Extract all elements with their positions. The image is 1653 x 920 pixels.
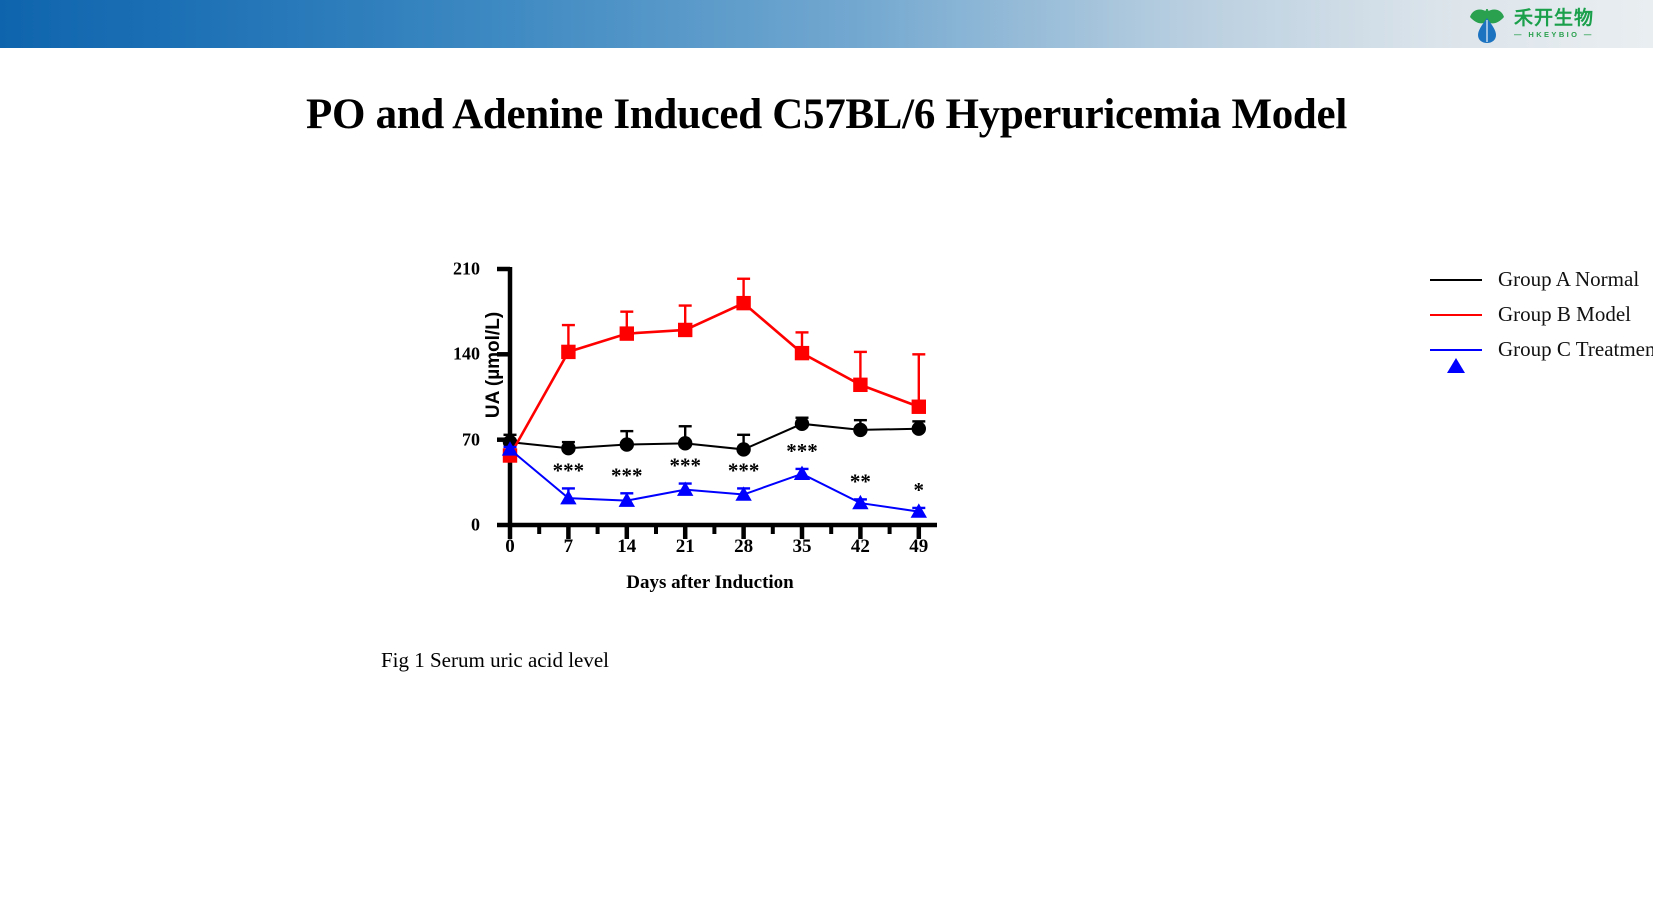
- legend-key-circle-icon: [1430, 270, 1482, 290]
- figure-container: UA (µmol/L) 0 70 140 210: [0, 236, 1653, 696]
- y-tick-label-210: 210: [430, 259, 480, 280]
- significance-marker: ***: [669, 454, 701, 478]
- data-point-marker: [852, 495, 868, 509]
- data-point-marker: [561, 345, 575, 359]
- data-point-marker: [561, 441, 575, 455]
- x-tick-label-0: 0: [490, 536, 530, 558]
- legend-key-triangle-icon: [1430, 340, 1482, 360]
- data-point-marker: [620, 326, 634, 340]
- chart-svg: ******************: [485, 236, 1005, 546]
- legend-label-group-b: Group B Model: [1498, 302, 1631, 327]
- y-tick-label-0: 0: [430, 515, 480, 536]
- data-point-marker: [795, 417, 809, 431]
- x-tick-label-35: 35: [782, 536, 822, 558]
- legend-item-group-b[interactable]: Group B Model: [1430, 297, 1653, 332]
- data-point-marker: [736, 296, 750, 310]
- logo-chinese-name: 禾开生物: [1514, 9, 1594, 28]
- x-tick-label-7: 7: [548, 536, 588, 558]
- logo-english-name: — HKEYBIO —: [1514, 31, 1594, 39]
- x-tick-label-14: 14: [607, 536, 647, 558]
- data-point-marker: [853, 423, 867, 437]
- data-point-marker: [620, 437, 634, 451]
- significance-marker: ***: [553, 458, 585, 482]
- data-point-marker: [678, 323, 692, 337]
- legend-key-square-icon: [1430, 305, 1482, 325]
- y-tick-label-140: 140: [430, 344, 480, 365]
- legend-label-group-c: Group C Treatment: [1498, 337, 1653, 362]
- significance-marker: ***: [728, 458, 760, 482]
- x-tick-label-49: 49: [899, 536, 939, 558]
- significance-marker: **: [850, 469, 871, 493]
- data-point-marker: [912, 400, 926, 414]
- data-point-marker: [736, 442, 750, 456]
- error-bar: [912, 354, 925, 406]
- logo-leaf-droplet-icon: [1467, 4, 1507, 44]
- legend-item-group-a[interactable]: Group A Normal: [1430, 262, 1653, 297]
- significance-marker: ***: [611, 463, 643, 487]
- company-logo: 禾开生物 — HKEYBIO —: [1467, 2, 1635, 46]
- chart-legend: Group A Normal Group B Model Group C Tre…: [1430, 262, 1653, 367]
- figure-caption: Fig 1 Serum uric acid level: [0, 648, 990, 673]
- logo-wordmark: 禾开生物 — HKEYBIO —: [1514, 9, 1594, 39]
- x-tick-label-42: 42: [840, 536, 880, 558]
- x-tick-label-28: 28: [724, 536, 764, 558]
- x-tick-label-21: 21: [665, 536, 705, 558]
- chart-plot-area: UA (µmol/L) 0 70 140 210: [430, 236, 990, 636]
- significance-marker: ***: [786, 439, 818, 463]
- significance-marker: *: [914, 478, 925, 502]
- data-point-marker: [795, 346, 809, 360]
- page-title: PO and Adenine Induced C57BL/6 Hyperuric…: [0, 90, 1653, 139]
- x-axis-title: Days after Induction: [490, 572, 930, 594]
- data-point-marker: [912, 421, 926, 435]
- legend-item-group-c[interactable]: Group C Treatment: [1430, 332, 1653, 367]
- data-point-marker: [678, 436, 692, 450]
- y-tick-label-70: 70: [430, 429, 480, 450]
- series-group-a: [503, 417, 926, 457]
- header-gradient-bar: 禾开生物 — HKEYBIO —: [0, 0, 1653, 48]
- legend-label-group-a: Group A Normal: [1498, 267, 1639, 292]
- data-point-marker: [853, 378, 867, 392]
